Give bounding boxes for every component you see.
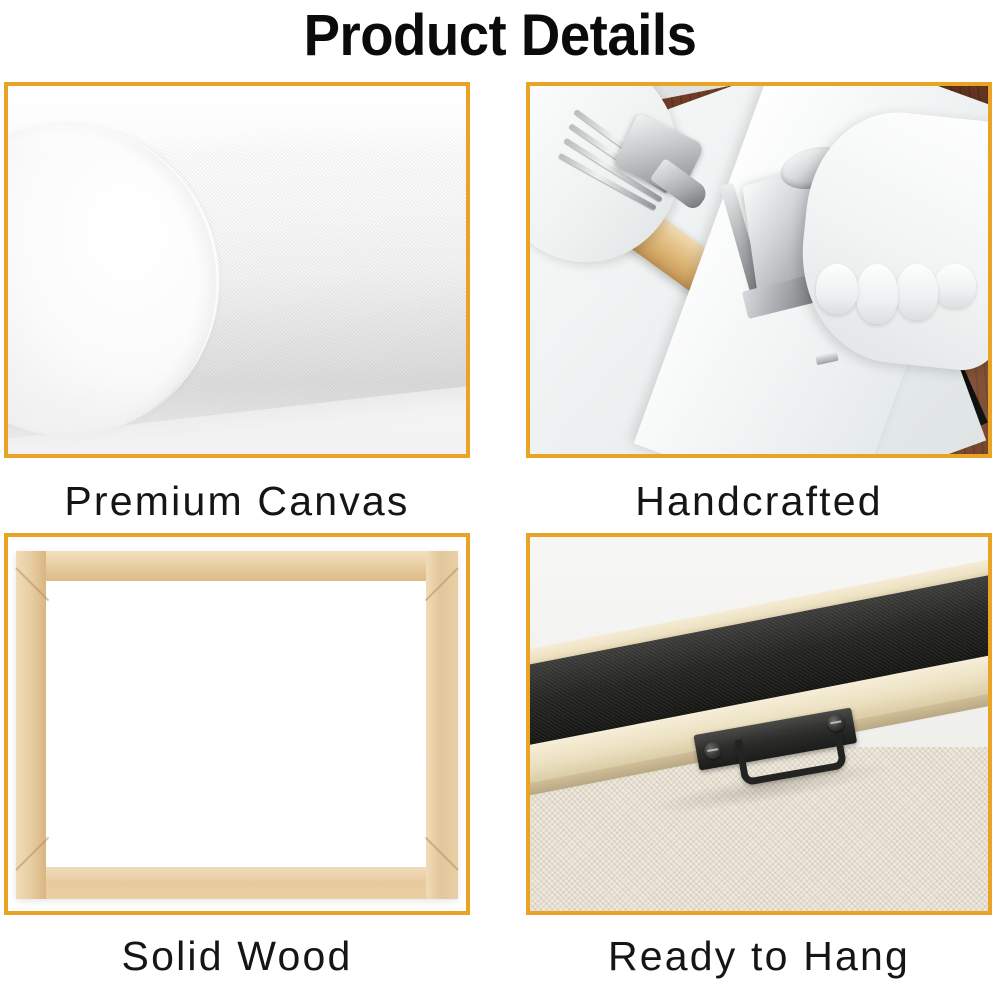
feature-card-ready-to-hang: Ready to Hang: [526, 533, 992, 989]
image-frame-premium-canvas: [4, 82, 470, 458]
glove-finger: [856, 264, 898, 324]
canvas-top-highlight: [8, 86, 466, 156]
feature-card-solid-wood: Solid Wood: [4, 533, 470, 989]
pine-picture-frame: [16, 551, 458, 899]
caption-handcrafted: Handcrafted: [526, 458, 992, 534]
image-frame-ready-to-hang: [526, 533, 992, 915]
handcrafted-photo: [530, 86, 988, 454]
feature-card-premium-canvas: Premium Canvas: [4, 82, 470, 534]
glove-finger: [896, 264, 938, 320]
caption-solid-wood: Solid Wood: [4, 915, 470, 989]
canvas-roll-photo: [8, 86, 466, 454]
solid-wood-photo: [8, 537, 466, 911]
ready-to-hang-photo: [530, 537, 988, 911]
feature-card-handcrafted: Handcrafted: [526, 82, 992, 534]
gloved-fingers: [802, 264, 982, 328]
product-details-infographic: Product Details Premium Canvas: [0, 0, 1000, 975]
image-frame-handcrafted: [526, 82, 992, 458]
glove-finger: [934, 264, 976, 308]
canvas-bottom-shadow: [8, 382, 466, 454]
image-frame-solid-wood: [4, 533, 470, 915]
page-title: Product Details: [30, 0, 970, 72]
caption-ready-to-hang: Ready to Hang: [526, 915, 992, 989]
feature-card-grid: Premium Canvas: [0, 82, 1000, 975]
caption-premium-canvas: Premium Canvas: [4, 458, 470, 534]
glove-finger: [816, 264, 858, 314]
